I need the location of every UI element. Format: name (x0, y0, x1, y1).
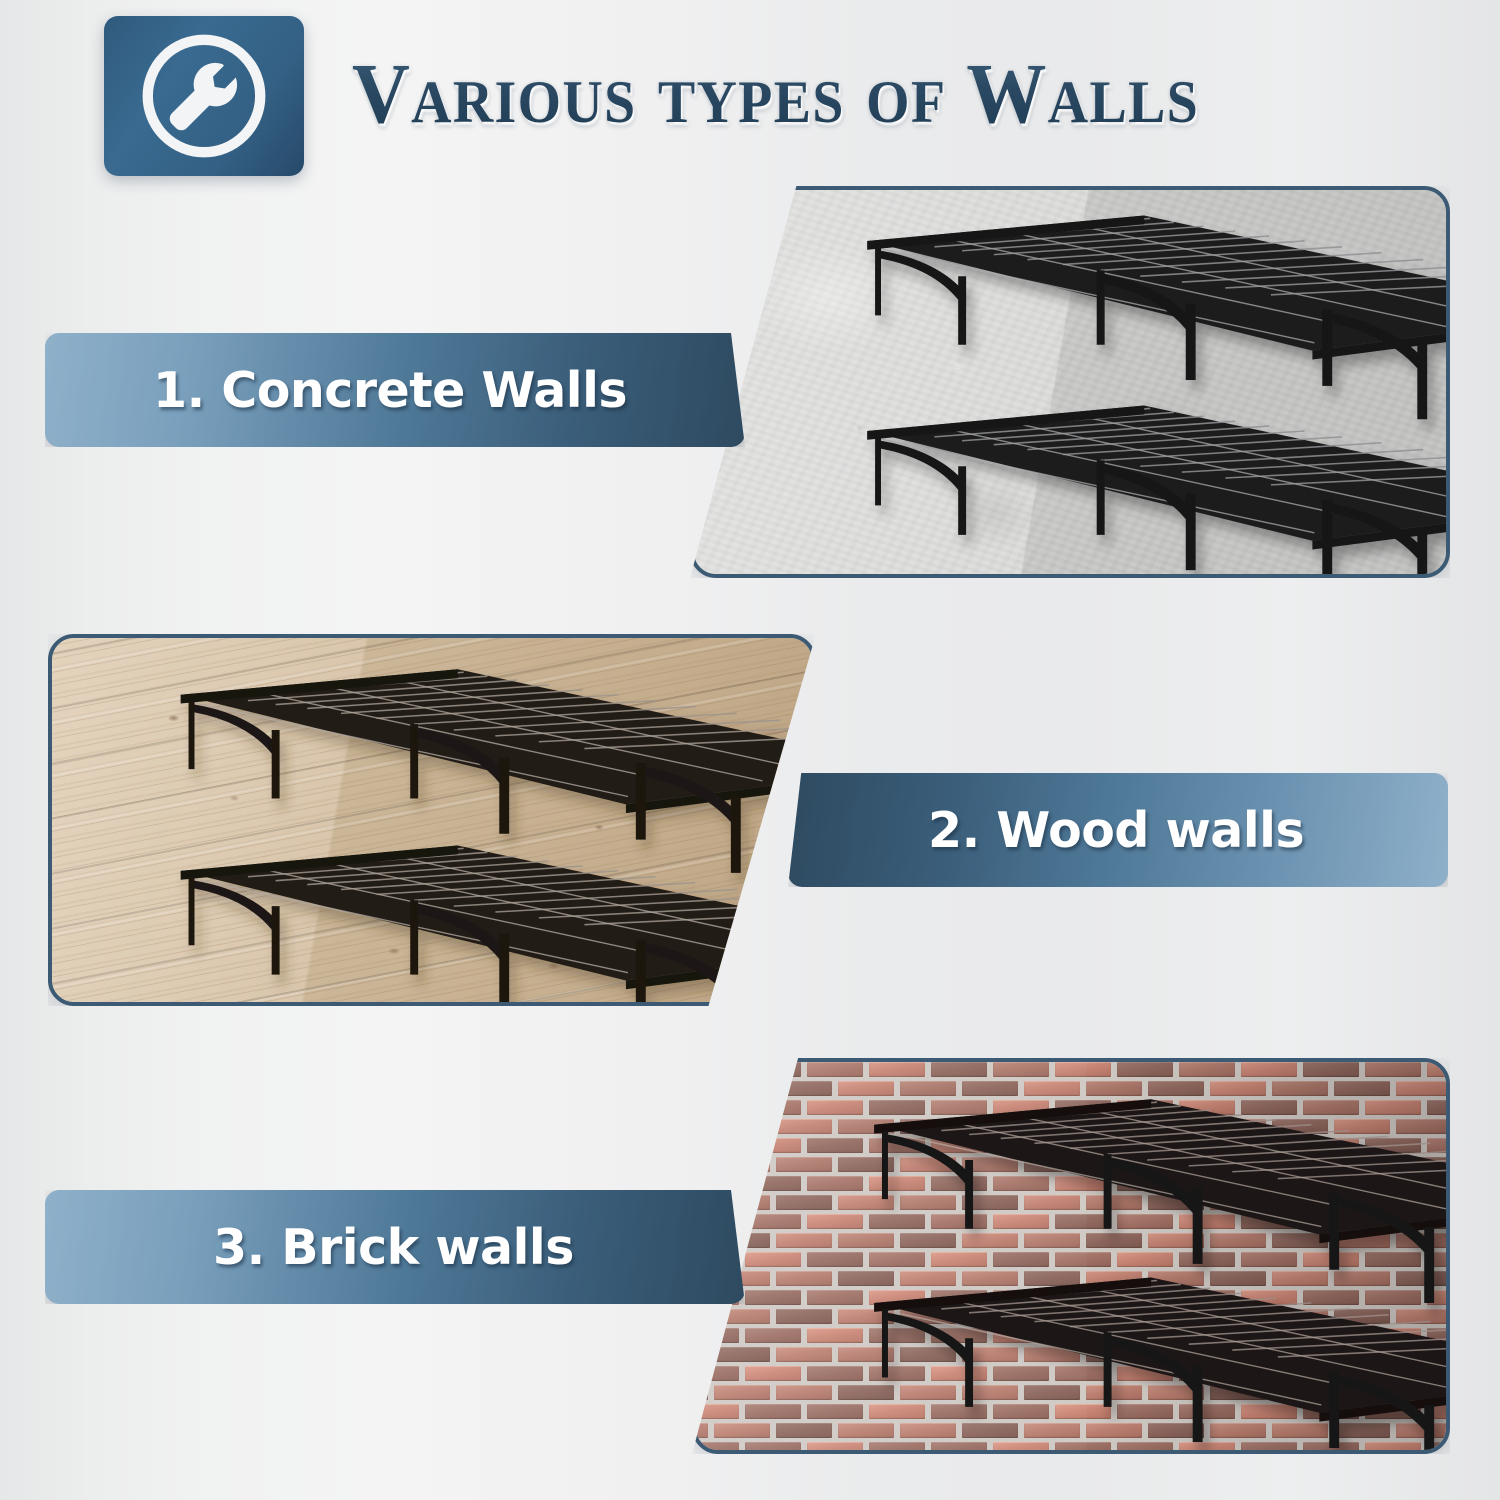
label-brick-walls-text: 3. Brick walls (213, 1219, 574, 1276)
brick (692, 1119, 708, 1134)
shelf-illustration-concrete (694, 190, 1446, 574)
shelf-illustration-brick (696, 1062, 1446, 1450)
wood-wall-photo (48, 634, 816, 1006)
brick (692, 1309, 708, 1324)
brick (692, 1062, 739, 1077)
concrete-wall-photo (690, 186, 1450, 578)
label-concrete-walls-text: 1. Concrete Walls (153, 362, 627, 419)
label-brick-walls[interactable]: 3. Brick walls (45, 1190, 745, 1304)
brick (745, 1062, 801, 1077)
brick (692, 1100, 739, 1115)
brick (714, 1081, 770, 1096)
page-header: Various types of Walls (0, 0, 1500, 190)
brick (692, 1157, 708, 1172)
brick (714, 1119, 770, 1134)
shelf-illustration-wood (52, 638, 812, 1002)
brick (692, 1385, 708, 1400)
brick (692, 1081, 708, 1096)
label-wood-walls[interactable]: 2. Wood walls (788, 773, 1448, 887)
brick-wall-photo (692, 1058, 1450, 1454)
wrench-in-circle-icon (130, 22, 278, 170)
brick (692, 1176, 739, 1191)
label-concrete-walls[interactable]: 1. Concrete Walls (45, 333, 745, 447)
page-title: Various types of Walls (352, 38, 1338, 148)
brick (714, 1157, 770, 1172)
brick (692, 1347, 708, 1362)
label-wood-walls-text: 2. Wood walls (928, 802, 1304, 859)
brand-logo-tile (104, 16, 304, 176)
brick (692, 1138, 739, 1153)
